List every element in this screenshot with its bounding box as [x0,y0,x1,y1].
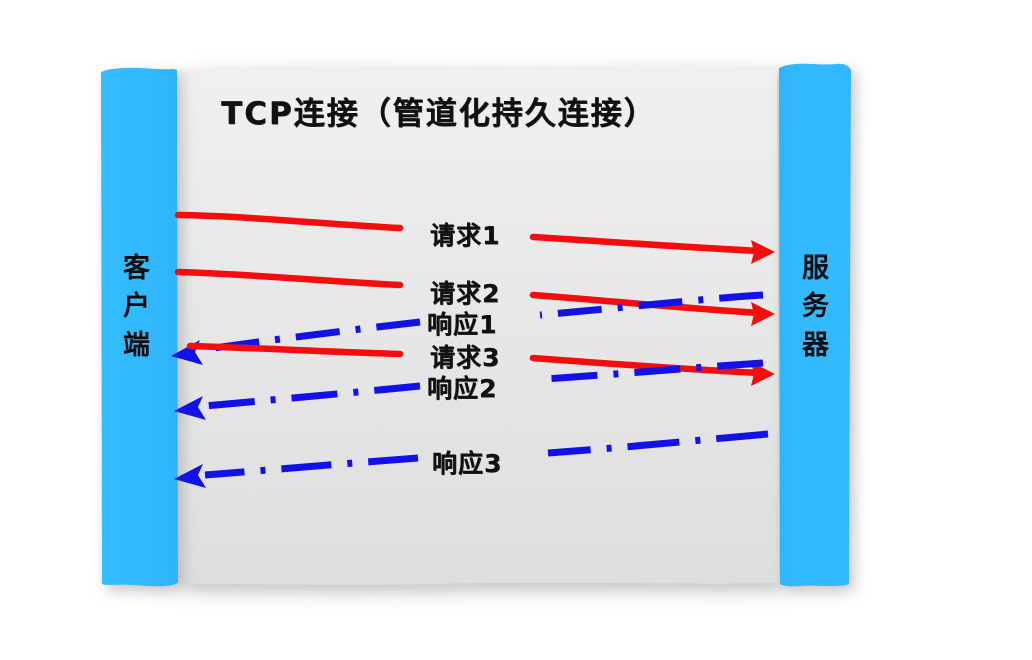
client-label-char-3: 端 [114,327,160,365]
message-label-resp3: 响应3 [432,444,502,480]
server-label-char-3: 器 [793,327,839,365]
client-label-char-1: 客 [114,250,160,288]
client-label-char-2: 户 [114,288,160,326]
message-label-resp2: 响应2 [427,369,497,405]
server-actor-label: 服 务 器 [793,250,839,365]
message-label-req1: 请求1 [430,216,500,252]
diagram-title: TCP连接（管道化持久连接） [221,88,657,133]
diagram-canvas: TCP连接（管道化持久连接） 客 户 端 服 务 器 请求1 请求2 响应1 请… [0,0,1032,660]
server-label-char-1: 服 [793,250,839,288]
message-label-resp1: 响应1 [427,305,497,341]
server-label-char-2: 务 [793,288,839,326]
client-actor-label: 客 户 端 [114,250,160,365]
